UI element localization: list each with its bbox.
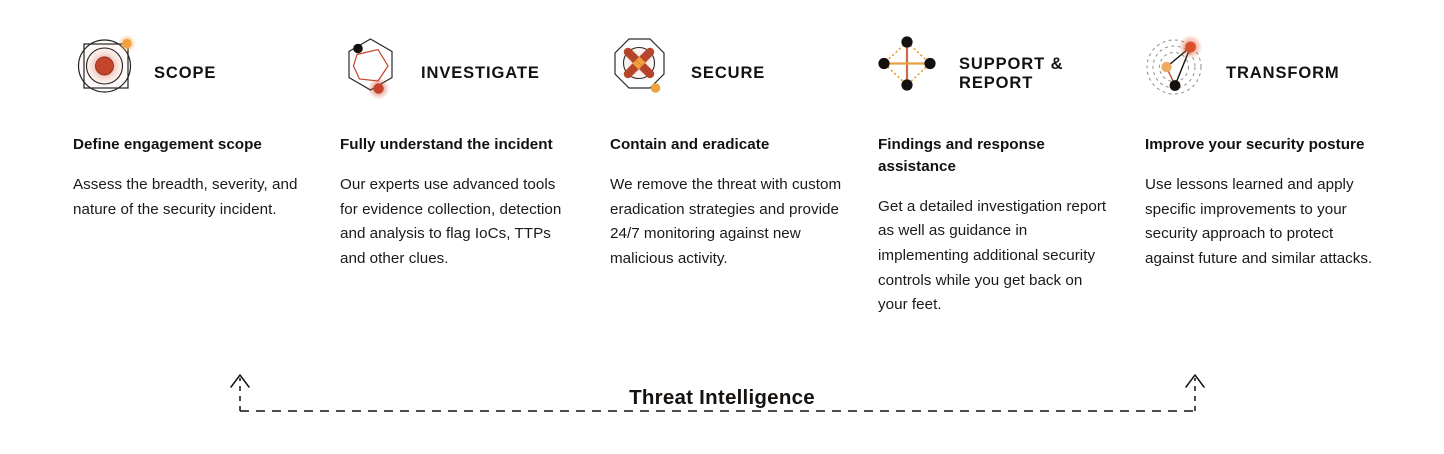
arrow-up-icon-right — [1186, 375, 1204, 411]
step-body-scope: Assess the breadth, severity, and nature… — [73, 173, 305, 222]
step-label-investigate: INVESTIGATE — [421, 64, 540, 83]
step-body-investigate: Our experts use advanced tools for evide… — [340, 173, 572, 272]
hexagon-nodes-icon — [340, 35, 412, 113]
step-column-secure: SECURE Contain and eradicate We remove t… — [610, 28, 842, 271]
step-body-support-report: Get a detailed investigation report as w… — [878, 195, 1110, 318]
arrow-up-icon-left — [231, 375, 249, 411]
step-header-support-report: SUPPORT & REPORT — [878, 28, 1110, 120]
step-heading-support-report: Findings and response assistance — [878, 134, 1110, 178]
step-body-transform: Use lessons learned and apply specific i… — [1145, 173, 1377, 272]
step-heading-transform: Improve your security posture — [1145, 134, 1377, 156]
incident-response-diagram: SCOPE Define engagement scope Assess the… — [0, 0, 1444, 454]
step-label-secure: SECURE — [691, 64, 765, 83]
threat-intelligence-label: Threat Intelligence — [617, 386, 827, 410]
octagon-cross-icon — [610, 35, 682, 113]
step-header-secure: SECURE — [610, 28, 842, 120]
step-column-transform: TRANSFORM Improve your security posture … — [1145, 28, 1377, 271]
step-header-transform: TRANSFORM — [1145, 28, 1377, 120]
step-column-support-report: SUPPORT & REPORT Findings and response a… — [878, 28, 1110, 318]
radar-nodes-icon — [1145, 35, 1217, 113]
step-label-scope: SCOPE — [154, 64, 216, 83]
step-heading-secure: Contain and eradicate — [610, 134, 842, 156]
step-label-transform: TRANSFORM — [1226, 64, 1340, 83]
step-column-scope: SCOPE Define engagement scope Assess the… — [73, 28, 305, 222]
step-heading-investigate: Fully understand the incident — [340, 134, 572, 156]
target-square-icon — [73, 35, 145, 113]
step-heading-scope: Define engagement scope — [73, 134, 305, 156]
step-column-investigate: INVESTIGATE Fully understand the inciden… — [340, 28, 572, 271]
step-header-scope: SCOPE — [73, 28, 305, 120]
step-header-investigate: INVESTIGATE — [340, 28, 572, 120]
step-label-support-report: SUPPORT & REPORT — [959, 55, 1063, 93]
diamond-network-icon — [878, 35, 950, 113]
step-body-secure: We remove the threat with custom eradica… — [610, 173, 842, 272]
